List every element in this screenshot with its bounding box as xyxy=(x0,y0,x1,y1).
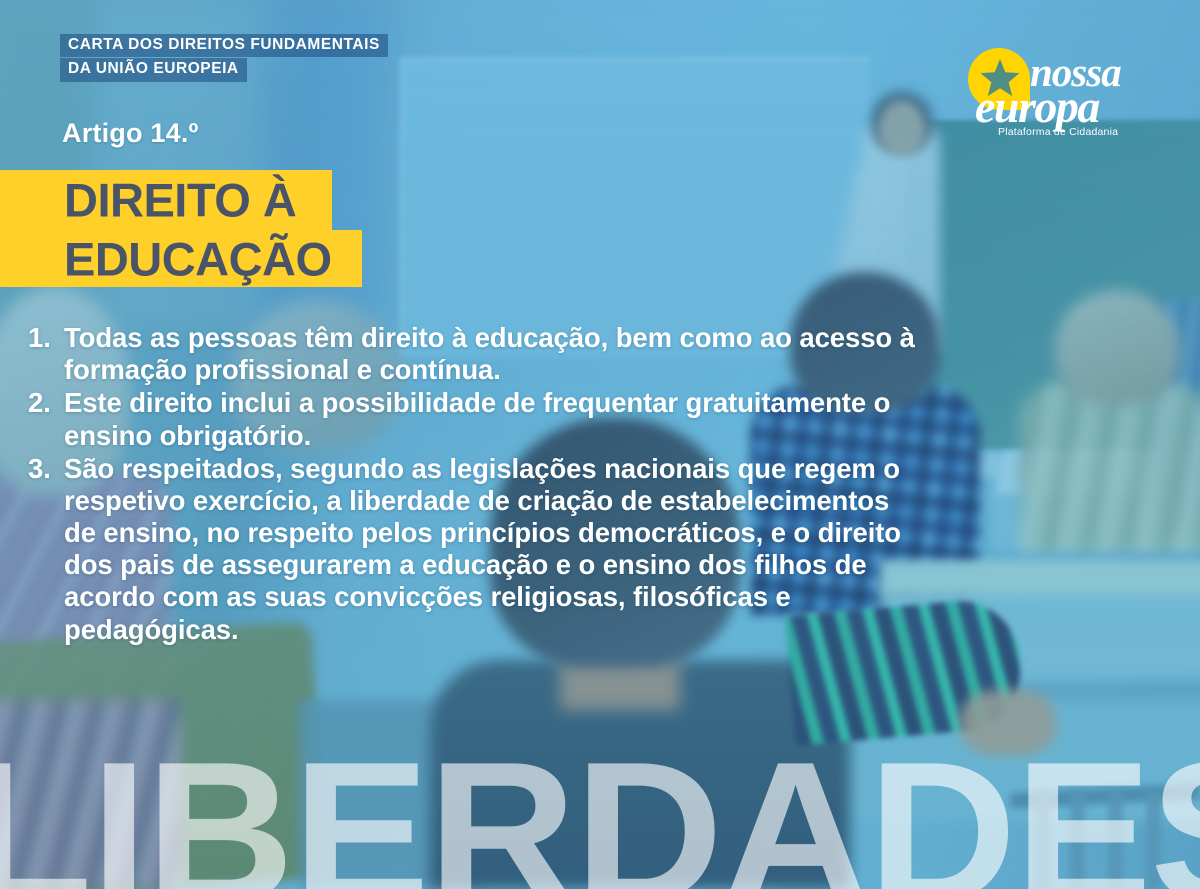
article-label: Artigo 14.º xyxy=(62,118,199,149)
charter-line-1: CARTA DOS DIREITOS FUNDAMENTAIS xyxy=(60,34,388,57)
charter-line-2: DA UNIÃO EUROPEIA xyxy=(60,58,247,81)
list-item-number: 3. xyxy=(28,453,64,485)
list-item: 2. Este direito inclui a possibilidade d… xyxy=(28,387,928,451)
title-bar-1: DIREITO À xyxy=(0,170,332,230)
title-block: DIREITO À EDUCAÇÃO xyxy=(0,170,362,287)
logo-nossa-europa[interactable]: nossa europa Plataforma de Cidadania xyxy=(968,44,1158,148)
charter-header: CARTA DOS DIREITOS FUNDAMENTAIS DA UNIÃO… xyxy=(60,34,388,82)
list-item: 3. São respeitados, segundo as legislaçõ… xyxy=(28,453,928,646)
logo-word-europa: europa xyxy=(975,84,1099,130)
list-item: 1. Todas as pessoas têm direito à educaç… xyxy=(28,322,928,386)
rights-list: 1. Todas as pessoas têm direito à educaç… xyxy=(28,322,928,647)
title-bar-2: EDUCAÇÃO xyxy=(0,230,362,287)
title-line-2: EDUCAÇÃO xyxy=(64,231,332,286)
title-line-1: DIREITO À xyxy=(64,173,296,228)
logo-tagline: Plataforma de Cidadania xyxy=(998,126,1118,138)
list-item-text: São respeitados, segundo as legislações … xyxy=(64,453,928,646)
list-item-number: 2. xyxy=(28,387,64,419)
poster: LIBERDADES CARTA DOS DIREITOS FUNDAMENTA… xyxy=(0,0,1200,889)
list-item-number: 1. xyxy=(28,322,64,354)
list-item-text: Todas as pessoas têm direito à educação,… xyxy=(64,322,928,386)
logo-wordmark: nossa europa Plataforma de Cidadania xyxy=(1018,44,1164,132)
watermark-liberdades: LIBERDADES xyxy=(0,743,1200,889)
list-item-text: Este direito inclui a possibilidade de f… xyxy=(64,387,928,451)
